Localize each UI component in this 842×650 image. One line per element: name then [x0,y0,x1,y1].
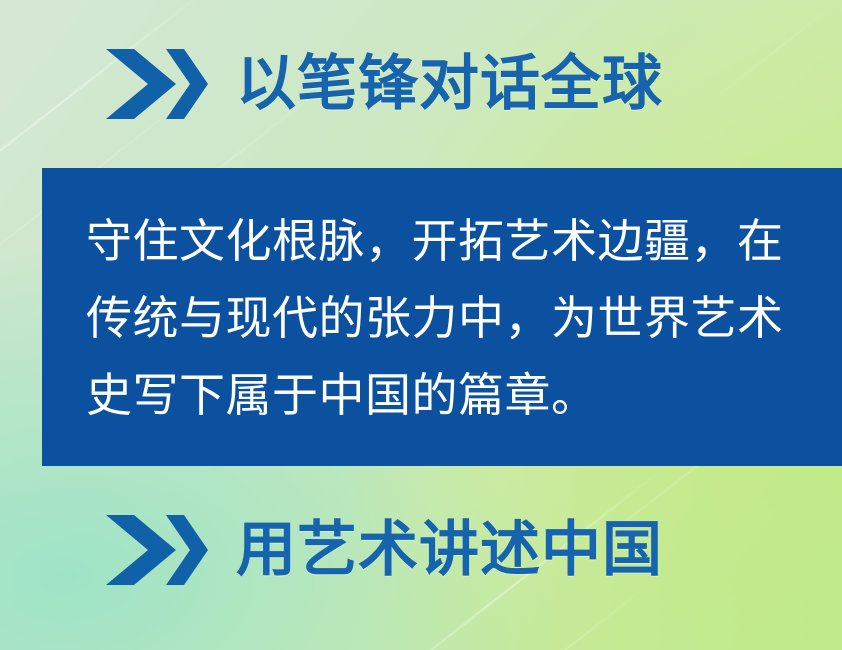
double-chevron-right-icon [104,513,210,587]
poster-canvas: 以笔锋对话全球 守住文化根脉，开拓艺术边疆，在 传统与现代的张力中，为世界艺术 … [0,0,842,650]
double-chevron-right-icon [104,47,210,121]
quote-line: 史写下属于中国的篇章。 [86,357,798,434]
light-streak [690,0,842,118]
heading-bottom-label: 用艺术讲述中国 [236,520,663,580]
heading-top: 以笔锋对话全球 [104,47,663,121]
heading-top-label: 以笔锋对话全球 [236,54,663,114]
quote-panel: 守住文化根脉，开拓艺术边疆，在 传统与现代的张力中，为世界艺术 史写下属于中国的… [42,168,842,466]
quote-line: 守住文化根脉，开拓艺术边疆，在 [86,203,798,280]
quote-line: 传统与现代的张力中，为世界艺术 [86,280,798,357]
heading-bottom: 用艺术讲述中国 [104,513,663,587]
